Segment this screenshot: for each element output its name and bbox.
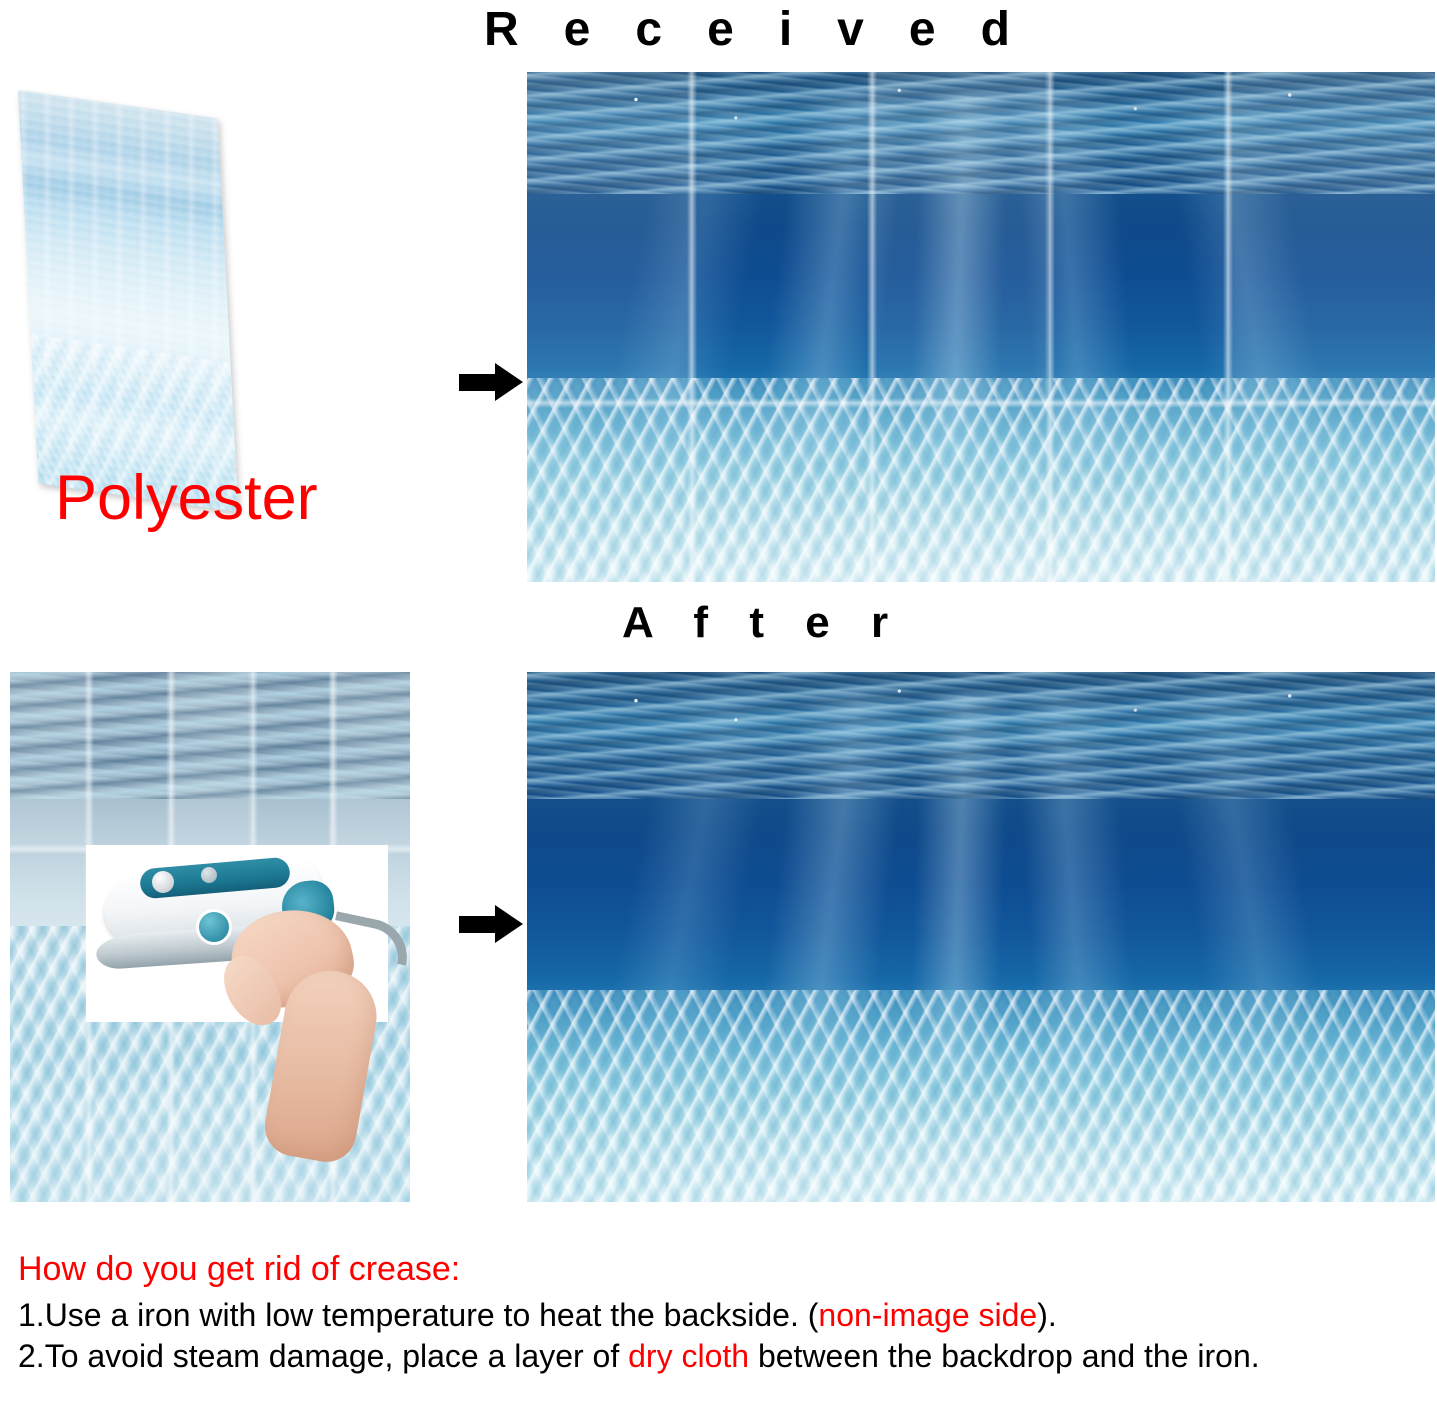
instructions-step-1: 1.Use a iron with low temperature to hea… <box>18 1295 1418 1336</box>
arrow-shaft <box>459 374 499 391</box>
arrow-shaft <box>459 916 499 933</box>
fabric-sheet <box>18 90 238 512</box>
water-surface-ripples <box>10 672 410 799</box>
iron-temperature-dial <box>196 909 232 945</box>
step1-prefix: 1.Use a iron with low temperature to hea… <box>18 1297 818 1333</box>
step2-suffix: between the backdrop and the iron. <box>749 1338 1260 1374</box>
sandy-seabed <box>527 990 1435 1202</box>
arrow-head <box>495 363 523 401</box>
arrow-head <box>495 905 523 943</box>
step2-prefix: 2.To avoid steam damage, place a layer o… <box>18 1338 628 1374</box>
sandy-seabed <box>527 378 1435 582</box>
iron-knob <box>152 871 174 893</box>
heading-received: R e c e i v e d <box>484 2 1026 57</box>
photo-after-smooth <box>527 672 1435 1202</box>
heading-after: A f t e r <box>622 598 903 648</box>
step1-suffix: ). <box>1037 1297 1057 1333</box>
iron-knob-secondary <box>201 867 217 883</box>
polyester-label: Polyester <box>55 462 318 534</box>
step2-highlight: dry cloth <box>628 1338 749 1374</box>
fabric-swatch-image <box>10 85 410 505</box>
instructions-title: How do you get rid of crease: <box>18 1250 1418 1289</box>
bubbles <box>527 72 1435 225</box>
instructions-block: How do you get rid of crease: 1.Use a ir… <box>18 1250 1418 1377</box>
bubbles <box>527 672 1435 831</box>
instructions-step-2: 2.To avoid steam damage, place a layer o… <box>18 1336 1418 1377</box>
photo-received-creased <box>527 72 1435 582</box>
hand-holding-iron <box>232 910 422 1155</box>
step1-highlight: non-image side <box>818 1297 1037 1333</box>
